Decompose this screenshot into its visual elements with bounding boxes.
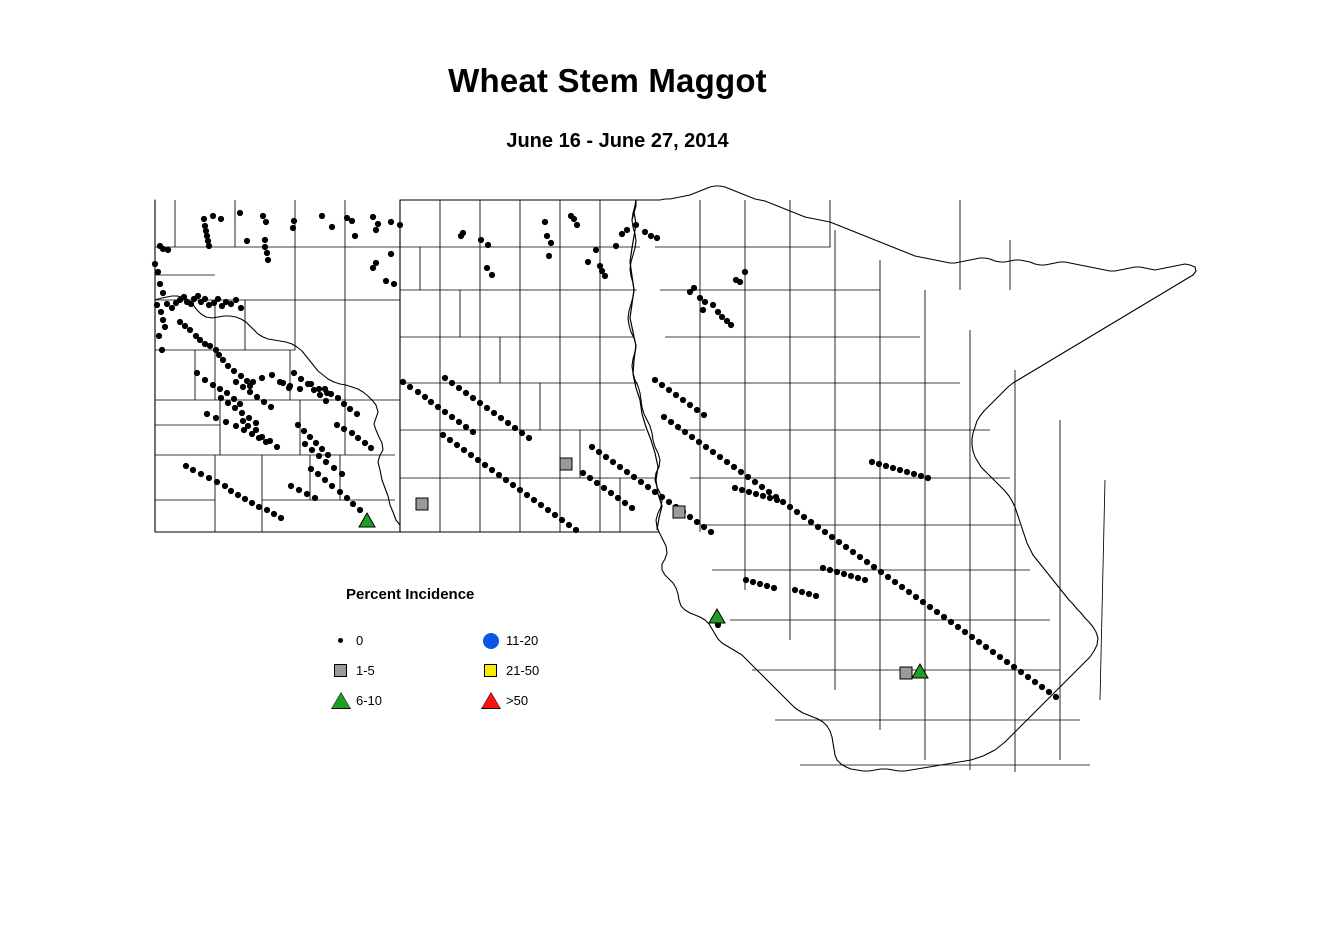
data-point-zero bbox=[708, 529, 714, 535]
data-point-zero bbox=[624, 469, 630, 475]
data-point-zero bbox=[911, 471, 917, 477]
data-point-zero bbox=[370, 265, 376, 271]
data-point-zero bbox=[673, 392, 679, 398]
data-point-zero bbox=[240, 384, 246, 390]
data-point-zero bbox=[233, 379, 239, 385]
data-point-zero bbox=[652, 377, 658, 383]
data-point-zero bbox=[941, 614, 947, 620]
data-point-zero bbox=[244, 238, 250, 244]
data-point-zero bbox=[848, 573, 854, 579]
data-point-zero bbox=[349, 218, 355, 224]
data-point-zero bbox=[202, 296, 208, 302]
data-point-zero bbox=[245, 423, 251, 429]
data-point-zero bbox=[820, 565, 826, 571]
data-point-zero bbox=[160, 290, 166, 296]
data-point-zero bbox=[157, 281, 163, 287]
data-point-zero bbox=[477, 400, 483, 406]
data-point-zero bbox=[764, 583, 770, 589]
data-point-zero bbox=[538, 502, 544, 508]
data-point-zero bbox=[183, 463, 189, 469]
data-point-zero bbox=[675, 424, 681, 430]
data-point-zero bbox=[1004, 659, 1010, 665]
legend-item-label: 21-50 bbox=[506, 663, 539, 678]
data-point-zero bbox=[892, 579, 898, 585]
data-point-zero bbox=[855, 575, 861, 581]
data-point-zero bbox=[249, 500, 255, 506]
data-point-zero bbox=[461, 447, 467, 453]
data-point-zero bbox=[349, 430, 355, 436]
data-point-zero bbox=[357, 507, 363, 513]
data-point-zero bbox=[498, 415, 504, 421]
data-point-zero bbox=[642, 229, 648, 235]
data-point-zero bbox=[652, 489, 658, 495]
state-montana bbox=[155, 200, 400, 532]
data-point-square bbox=[673, 506, 685, 518]
data-point-zero bbox=[822, 529, 828, 535]
data-point-zero bbox=[526, 435, 532, 441]
data-point-zero bbox=[220, 357, 226, 363]
map-page: Wheat Stem Maggot June 16 - June 27, 201… bbox=[0, 0, 1341, 926]
data-point-zero bbox=[654, 235, 660, 241]
data-point-zero bbox=[262, 244, 268, 250]
data-point-zero bbox=[691, 285, 697, 291]
data-point-zero bbox=[313, 440, 319, 446]
data-point-zero bbox=[388, 219, 394, 225]
data-point-zero bbox=[1039, 684, 1045, 690]
data-point-zero bbox=[624, 227, 630, 233]
data-point-zero bbox=[850, 549, 856, 555]
data-point-zero bbox=[165, 247, 171, 253]
data-point-zero bbox=[375, 221, 381, 227]
data-point-zero bbox=[240, 418, 246, 424]
data-point-zero bbox=[235, 492, 241, 498]
data-point-zero bbox=[274, 444, 280, 450]
data-point-zero bbox=[158, 309, 164, 315]
data-point-zero bbox=[435, 404, 441, 410]
small-dot-icon bbox=[330, 630, 352, 652]
data-point-zero bbox=[717, 454, 723, 460]
data-point-zero bbox=[794, 509, 800, 515]
data-point-zero bbox=[759, 484, 765, 490]
data-point-zero bbox=[512, 425, 518, 431]
data-point-zero bbox=[259, 375, 265, 381]
data-point-zero bbox=[743, 577, 749, 583]
data-point-zero bbox=[580, 470, 586, 476]
data-point-zero bbox=[587, 475, 593, 481]
data-point-zero bbox=[836, 539, 842, 545]
data-point-zero bbox=[391, 281, 397, 287]
circle-glyph bbox=[483, 633, 499, 649]
data-point-zero bbox=[728, 322, 734, 328]
circle-icon bbox=[480, 630, 502, 652]
data-point-zero bbox=[496, 472, 502, 478]
data-point-zero bbox=[682, 429, 688, 435]
data-point-zero bbox=[542, 219, 548, 225]
data-point-zero bbox=[983, 644, 989, 650]
legend-item-label: 6-10 bbox=[356, 693, 382, 708]
data-point-zero bbox=[927, 604, 933, 610]
data-point-zero bbox=[594, 480, 600, 486]
data-point-zero bbox=[264, 250, 270, 256]
data-point-zero bbox=[449, 380, 455, 386]
data-point-zero bbox=[955, 624, 961, 630]
data-point-zero bbox=[559, 517, 565, 523]
data-point-zero bbox=[368, 445, 374, 451]
data-point-zero bbox=[489, 272, 495, 278]
legend-title: Percent Incidence bbox=[346, 586, 474, 603]
map-canvas[interactable] bbox=[0, 0, 1341, 926]
data-point-zero bbox=[231, 396, 237, 402]
data-point-zero bbox=[278, 515, 284, 521]
data-point-zero bbox=[224, 390, 230, 396]
data-point-zero bbox=[731, 464, 737, 470]
data-point-zero bbox=[862, 577, 868, 583]
data-point-zero bbox=[505, 420, 511, 426]
data-point-zero bbox=[1046, 689, 1052, 695]
data-point-zero bbox=[304, 491, 310, 497]
data-point-zero bbox=[260, 213, 266, 219]
data-point-zero bbox=[585, 259, 591, 265]
data-point-zero bbox=[225, 363, 231, 369]
data-point-zero bbox=[295, 422, 301, 428]
data-point-zero bbox=[702, 299, 708, 305]
data-point-zero bbox=[470, 429, 476, 435]
data-point-zero bbox=[337, 489, 343, 495]
data-point-zero bbox=[162, 324, 168, 330]
data-point-zero bbox=[638, 479, 644, 485]
data-point-zero bbox=[370, 214, 376, 220]
data-point-zero bbox=[482, 462, 488, 468]
data-point-zero bbox=[596, 449, 602, 455]
data-point-zero bbox=[187, 327, 193, 333]
data-point-zero bbox=[485, 242, 491, 248]
data-point-zero bbox=[261, 399, 267, 405]
data-point-zero bbox=[355, 435, 361, 441]
data-point-zero bbox=[317, 392, 323, 398]
data-point-zero bbox=[715, 309, 721, 315]
data-point-zero bbox=[876, 461, 882, 467]
legend-item-label: 1-5 bbox=[356, 663, 375, 678]
data-point-zero bbox=[454, 442, 460, 448]
data-point-zero bbox=[233, 297, 239, 303]
data-point-zero bbox=[291, 370, 297, 376]
data-point-zero bbox=[463, 424, 469, 430]
data-point-zero bbox=[962, 629, 968, 635]
data-point-zero bbox=[659, 494, 665, 500]
data-point-zero bbox=[571, 216, 577, 222]
data-point-zero bbox=[160, 317, 166, 323]
data-point-zero bbox=[400, 379, 406, 385]
triangle-glyph bbox=[332, 693, 350, 708]
data-point-zero bbox=[899, 584, 905, 590]
data-point-zero bbox=[214, 479, 220, 485]
data-point-zero bbox=[629, 505, 635, 511]
data-point-zero bbox=[470, 395, 476, 401]
data-point-zero bbox=[489, 467, 495, 473]
data-point-zero bbox=[710, 302, 716, 308]
data-point-zero bbox=[322, 477, 328, 483]
data-point-zero bbox=[341, 426, 347, 432]
data-point-zero bbox=[524, 492, 530, 498]
data-point-zero bbox=[194, 370, 200, 376]
data-point-zero bbox=[737, 279, 743, 285]
data-point-zero bbox=[204, 411, 210, 417]
data-point-zero bbox=[373, 227, 379, 233]
data-point-zero bbox=[202, 377, 208, 383]
legend-item-label: >50 bbox=[506, 693, 528, 708]
data-point-zero bbox=[934, 609, 940, 615]
data-point-zero bbox=[362, 440, 368, 446]
data-point-square bbox=[900, 667, 912, 679]
data-point-zero bbox=[354, 411, 360, 417]
data-point-zero bbox=[738, 469, 744, 475]
data-point-zero bbox=[574, 222, 580, 228]
data-point-zero bbox=[1018, 669, 1024, 675]
triangle-icon bbox=[480, 690, 502, 712]
data-point-zero bbox=[305, 381, 311, 387]
data-point-zero bbox=[319, 213, 325, 219]
data-point-zero bbox=[787, 504, 793, 510]
data-point-zero bbox=[242, 496, 248, 502]
data-point-zero bbox=[468, 452, 474, 458]
data-point-zero bbox=[217, 386, 223, 392]
legend: Percent Incidence 01-56-1011-2021-50>50 bbox=[330, 586, 570, 711]
data-point-zero bbox=[767, 495, 773, 501]
data-point-zero bbox=[645, 484, 651, 490]
data-point-zero bbox=[906, 589, 912, 595]
data-point-zero bbox=[328, 391, 334, 397]
data-point-zero bbox=[268, 404, 274, 410]
data-point-zero bbox=[447, 437, 453, 443]
data-point-zero bbox=[237, 210, 243, 216]
data-point-zero bbox=[904, 469, 910, 475]
data-point-zero bbox=[298, 376, 304, 382]
data-point-zero bbox=[771, 585, 777, 591]
data-point-zero bbox=[610, 459, 616, 465]
data-point-zero bbox=[739, 487, 745, 493]
data-point-zero bbox=[238, 305, 244, 311]
data-point-zero bbox=[347, 406, 353, 412]
data-point-zero bbox=[228, 301, 234, 307]
data-point-zero bbox=[806, 591, 812, 597]
data-point-zero bbox=[792, 587, 798, 593]
data-point-zero bbox=[648, 233, 654, 239]
data-point-zero bbox=[309, 447, 315, 453]
data-point-zero bbox=[827, 567, 833, 573]
data-point-zero bbox=[631, 474, 637, 480]
data-point-zero bbox=[383, 278, 389, 284]
data-point-zero bbox=[703, 444, 709, 450]
data-point-zero bbox=[233, 423, 239, 429]
data-point-zero bbox=[253, 427, 259, 433]
data-point-zero bbox=[269, 372, 275, 378]
data-point-zero bbox=[668, 419, 674, 425]
data-point-zero bbox=[463, 390, 469, 396]
data-point-zero bbox=[680, 397, 686, 403]
data-point-zero bbox=[415, 389, 421, 395]
data-point-zero bbox=[352, 233, 358, 239]
data-point-zero bbox=[841, 571, 847, 577]
data-point-zero bbox=[701, 524, 707, 530]
data-point-zero bbox=[871, 564, 877, 570]
data-point-zero bbox=[388, 251, 394, 257]
data-point-zero bbox=[280, 380, 286, 386]
map-svg bbox=[0, 0, 1341, 926]
triangle-icon bbox=[330, 690, 352, 712]
data-point-zero bbox=[222, 483, 228, 489]
data-point-zero bbox=[442, 375, 448, 381]
data-point-zero bbox=[308, 466, 314, 472]
data-point-zero bbox=[834, 569, 840, 575]
data-point-zero bbox=[589, 444, 595, 450]
data-point-zero bbox=[449, 414, 455, 420]
state-minnesota bbox=[628, 186, 1196, 771]
data-point-zero bbox=[687, 514, 693, 520]
data-point-zero bbox=[228, 488, 234, 494]
data-point-zero bbox=[267, 438, 273, 444]
data-point-zero bbox=[182, 323, 188, 329]
data-point-zero bbox=[238, 373, 244, 379]
data-point-zero bbox=[253, 420, 259, 426]
data-point-zero bbox=[237, 401, 243, 407]
data-point-zero bbox=[197, 337, 203, 343]
data-point-zero bbox=[615, 495, 621, 501]
data-point-zero bbox=[323, 459, 329, 465]
data-point-zero bbox=[694, 407, 700, 413]
data-point-zero bbox=[864, 559, 870, 565]
data-point-zero bbox=[613, 243, 619, 249]
data-point-zero bbox=[152, 261, 158, 267]
data-point-zero bbox=[250, 379, 256, 385]
data-point-zero bbox=[1053, 694, 1059, 700]
data-point-zero bbox=[602, 273, 608, 279]
data-point-zero bbox=[689, 434, 695, 440]
data-point-zero bbox=[329, 483, 335, 489]
data-point-zero bbox=[312, 495, 318, 501]
data-point-zero bbox=[286, 385, 292, 391]
data-point-zero bbox=[218, 395, 224, 401]
data-point-zero bbox=[719, 314, 725, 320]
square-icon bbox=[480, 660, 502, 682]
data-point-zero bbox=[969, 634, 975, 640]
data-point-zero bbox=[223, 419, 229, 425]
data-point-zero bbox=[159, 347, 165, 353]
data-point-zero bbox=[319, 446, 325, 452]
data-point-zero bbox=[799, 589, 805, 595]
data-point-zero bbox=[484, 405, 490, 411]
data-point-zero bbox=[760, 493, 766, 499]
data-point-zero bbox=[990, 649, 996, 655]
square-glyph bbox=[334, 664, 347, 677]
data-point-zero bbox=[752, 479, 758, 485]
data-point-zero bbox=[829, 534, 835, 540]
data-point-zero bbox=[920, 599, 926, 605]
data-point-zero bbox=[329, 224, 335, 230]
data-point-zero bbox=[206, 475, 212, 481]
data-point-zero bbox=[659, 382, 665, 388]
data-point-zero bbox=[633, 222, 639, 228]
data-point-zero bbox=[694, 519, 700, 525]
legend-item-label: 0 bbox=[356, 633, 363, 648]
data-point-zero bbox=[1032, 679, 1038, 685]
data-point-zero bbox=[428, 399, 434, 405]
data-point-zero bbox=[997, 654, 1003, 660]
data-point-zero bbox=[169, 305, 175, 311]
data-point-zero bbox=[456, 385, 462, 391]
data-point-zero bbox=[164, 301, 170, 307]
data-point-zero bbox=[566, 522, 572, 528]
data-point-zero bbox=[603, 454, 609, 460]
data-point-zero bbox=[288, 483, 294, 489]
data-point-zero bbox=[766, 489, 772, 495]
data-point-zero bbox=[608, 490, 614, 496]
data-point-zero bbox=[207, 343, 213, 349]
data-point-zero bbox=[503, 477, 509, 483]
data-point-zero bbox=[531, 497, 537, 503]
data-point-zero bbox=[746, 489, 752, 495]
data-point-zero bbox=[757, 581, 763, 587]
data-point-zero bbox=[215, 296, 221, 302]
data-point-zero bbox=[622, 500, 628, 506]
data-point-zero bbox=[869, 459, 875, 465]
data-point-zero bbox=[1025, 674, 1031, 680]
data-point-zero bbox=[316, 453, 322, 459]
data-point-zero bbox=[458, 233, 464, 239]
data-point-zero bbox=[239, 410, 245, 416]
data-point-zero bbox=[190, 467, 196, 473]
data-point-zero bbox=[700, 307, 706, 313]
data-point-zero bbox=[256, 504, 262, 510]
legend-item-label: 11-20 bbox=[506, 633, 538, 648]
data-point-zero bbox=[517, 487, 523, 493]
data-point-zero bbox=[857, 554, 863, 560]
data-point-zero bbox=[341, 401, 347, 407]
state-outlines bbox=[155, 186, 1196, 771]
data-point-zero bbox=[344, 495, 350, 501]
data-point-zero bbox=[619, 231, 625, 237]
data-point-zero bbox=[201, 216, 207, 222]
data-point-zero bbox=[262, 237, 268, 243]
data-point-zero bbox=[475, 457, 481, 463]
data-point-zero bbox=[210, 382, 216, 388]
data-point-zero bbox=[334, 422, 340, 428]
data-point-zero bbox=[890, 465, 896, 471]
data-point-zero bbox=[1011, 664, 1017, 670]
data-point-zero bbox=[246, 415, 252, 421]
data-point-zero bbox=[661, 414, 667, 420]
data-point-zero bbox=[544, 233, 550, 239]
data-point-zero bbox=[753, 491, 759, 497]
data-point-zero bbox=[422, 394, 428, 400]
data-point-zero bbox=[617, 464, 623, 470]
data-point-zero bbox=[484, 265, 490, 271]
data-point-zero bbox=[296, 487, 302, 493]
data-point-zero bbox=[701, 412, 707, 418]
data-point-zero bbox=[742, 269, 748, 275]
dot-glyph bbox=[338, 638, 343, 643]
data-point-zero bbox=[696, 439, 702, 445]
data-point-zero bbox=[156, 333, 162, 339]
square-icon bbox=[330, 660, 352, 682]
data-point-zero bbox=[750, 579, 756, 585]
data-point-zero bbox=[976, 639, 982, 645]
data-point-zero bbox=[925, 475, 931, 481]
data-point-zero bbox=[154, 302, 160, 308]
data-point-zero bbox=[210, 213, 216, 219]
data-point-zero bbox=[546, 253, 552, 259]
data-point-zero bbox=[339, 471, 345, 477]
data-point-zero bbox=[397, 222, 403, 228]
